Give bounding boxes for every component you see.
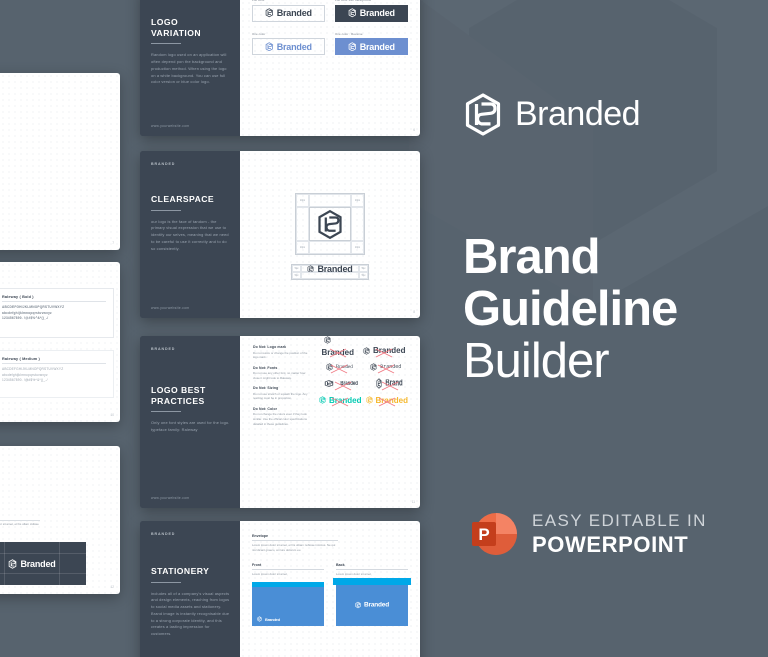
- slide-page-number: 10: [110, 413, 114, 417]
- rule-text: Do not change the colors even if they lo…: [253, 412, 311, 426]
- slide-title: LOGO BESTPRACTICES: [151, 385, 231, 406]
- envelope-back-col: Back Lorem ipsum dolor sit amet, Branded: [336, 563, 408, 626]
- slide-body-text: our logo is the face of tandom - the pri…: [151, 219, 231, 253]
- slide-footer-url: www.yourwebsite.com: [151, 496, 231, 500]
- slide-footer-url: www.yourwebsite.com: [151, 306, 231, 310]
- envelope-intro: Envelope Lorem ipsum dolor sit amet, ei …: [252, 534, 338, 552]
- clearspace-diagram: 10px 10px 10px 10px 5px Branded: [240, 151, 420, 318]
- branded-hexagon-logo-icon: [257, 616, 262, 622]
- divider: [2, 301, 106, 302]
- brand-wordmark: Branded: [360, 42, 395, 52]
- example-row-fonts: Branded Branded: [317, 362, 410, 373]
- example-row-sizing: Branded Brand: [317, 378, 410, 389]
- slide-page-number: 11: [412, 500, 415, 504]
- hero-brand-lockup: Branded: [463, 92, 640, 137]
- typography-glyphs: 1234567890. !@#$%^&*()_-/: [2, 378, 106, 384]
- divider: [151, 43, 181, 44]
- best-practices-examples: Branded Branded Branded Bra: [317, 345, 410, 499]
- branded-lockup: Branded: [8, 559, 55, 569]
- svg-text:P: P: [478, 525, 489, 544]
- slide-page-number: 6: [413, 128, 415, 132]
- example-row-color: Branded Branded: [317, 395, 410, 406]
- rule-item: Do Not: Sizing Do not use stretch or squ…: [253, 386, 311, 401]
- left-card-business-card[interactable]: amet, ei ulat. amet, ei us. Back Lorem i…: [0, 446, 120, 594]
- slide-content: Full color Branded Full color with backg…: [240, 0, 420, 136]
- brand-wordmark: Branded: [277, 42, 312, 52]
- logo-variant-full-color-bg[interactable]: Full color with background Branded: [335, 0, 408, 22]
- divider: [151, 411, 181, 412]
- typography-heading: Raleway ( Medium ): [2, 357, 106, 361]
- typography-block-bold[interactable]: Raleway ( Bold ) ABCDEFGHIJKLMNOPQRSTUVW…: [0, 288, 114, 338]
- clearspace-label: 5px: [295, 274, 299, 277]
- clearspace-lockup-grid: 5px Branded 5px 5px 5px: [291, 264, 369, 280]
- slide-page-number: 12: [110, 585, 114, 589]
- bad-example: Branded: [370, 363, 401, 371]
- envelope-back-preview[interactable]: Branded: [336, 582, 408, 626]
- slide-footer-url: www.yourwebsite.com: [151, 124, 231, 128]
- brand-wordmark: Branded: [360, 8, 395, 18]
- branded-hexagon-logo-icon: [376, 378, 382, 389]
- typography-block-medium[interactable]: Raleway ( Medium ) ABCDEFGHIJKLMNOPQRSTU…: [0, 350, 114, 398]
- slide-content: Envelope Lorem ipsum dolor sit amet, ei …: [240, 521, 420, 657]
- rule-heading: Do Not: Sizing: [253, 386, 311, 390]
- slide-body-text: Only one font styles are used for the lo…: [151, 420, 231, 433]
- logo-variant-one-color[interactable]: One color Branded: [252, 32, 325, 56]
- brand-wordmark: Branded: [364, 601, 389, 608]
- logo-variant-full-color[interactable]: Full color Branded: [252, 0, 325, 22]
- hero-panel: Branded Brand Guideline Builder P EASY E…: [460, 0, 768, 657]
- page-title-line3: Builder: [463, 336, 677, 388]
- powerpoint-icon: P: [466, 508, 518, 560]
- slide-sidebar: BRANDED STATIONERY includes all of a com…: [140, 521, 240, 657]
- envelope-previews: Front Lorem ipsum dolor sit amet, Brande…: [252, 563, 408, 626]
- branded-hexagon-logo-icon: [324, 336, 331, 344]
- slide-title: STATIONERY: [151, 566, 231, 577]
- envelope-front-col: Front Lorem ipsum dolor sit amet, Brande…: [252, 563, 324, 626]
- brand-wordmark: Branded: [265, 617, 280, 622]
- divider: [252, 540, 338, 541]
- clearspace-label: 10px: [300, 246, 305, 249]
- clearspace-logo-cell: [309, 207, 351, 241]
- logo-variation-grid: Full color Branded Full color with backg…: [240, 0, 420, 136]
- bad-example: Branded: [319, 396, 361, 405]
- bad-example: Branded: [322, 342, 354, 360]
- variant-swatch[interactable]: Branded: [335, 38, 408, 55]
- left-card-typography[interactable]: the ing. are used for standard body stat…: [0, 262, 120, 422]
- powerpoint-badge: P EASY EDITABLE IN POWERPOINT: [466, 508, 707, 560]
- page-title-line2: Guideline: [463, 284, 677, 336]
- slide-eyebrow: BRANDED: [151, 532, 231, 536]
- variant-swatch[interactable]: Branded: [335, 5, 408, 22]
- rule-heading: Do Not: Fonts: [253, 366, 311, 370]
- brand-wordmark: Branded: [20, 559, 55, 569]
- clearspace-label: 10px: [355, 246, 360, 249]
- envelope-front-label: Front: [252, 563, 324, 567]
- slide-sidebar: BRANDED CLEARSPACE our logo is the face …: [140, 151, 240, 318]
- branded-hexagon-logo-icon: [366, 396, 373, 404]
- slide-page-number: 8: [413, 310, 415, 314]
- slide-body-text: includes all of a company's visual aspec…: [151, 591, 231, 638]
- envelope-heading: Envelope: [252, 534, 338, 538]
- envelope-back-label: Back: [336, 563, 408, 567]
- best-practices-rules: Do Not: Logo mark Do not resize or chang…: [253, 345, 311, 499]
- slide-eyebrow: BRANDED: [151, 162, 231, 166]
- variant-swatch[interactable]: Branded: [252, 5, 325, 22]
- branded-hexagon-logo-icon: [370, 363, 377, 371]
- branded-hexagon-logo-icon: [324, 380, 334, 387]
- business-card-back-label: Back: [0, 514, 40, 518]
- slide-card-logo-variation[interactable]: LOGOVARIATION Random logo used on an app…: [140, 0, 420, 136]
- rule-text: Do not use any other font, no matter how…: [253, 371, 311, 381]
- bad-example: Branded: [363, 346, 405, 355]
- brand-wordmark: Branded: [277, 8, 312, 18]
- divider: [151, 582, 181, 583]
- branded-hexagon-logo-icon: [265, 42, 274, 52]
- envelope-front-preview[interactable]: Branded: [252, 582, 324, 626]
- clearspace-label: 10px: [355, 199, 360, 202]
- rule-item: Do Not: Fonts Do not use any other font,…: [253, 366, 311, 381]
- clearspace-label: 5px: [362, 274, 366, 277]
- example-row-logo-mark: Branded Branded: [317, 345, 410, 356]
- envelope-back-text: Lorem ipsum dolor sit amet,: [336, 572, 408, 577]
- branded-hexagon-logo-icon: [319, 396, 326, 404]
- bad-example: Branded: [324, 380, 361, 387]
- slide-card-logo-best-practices[interactable]: BRANDED LOGO BESTPRACTICES Only one font…: [140, 336, 420, 508]
- best-practices-layout: Do Not: Logo mark Do not resize or chang…: [240, 336, 420, 508]
- variant-caption: One color : Reverse: [335, 32, 408, 36]
- envelope-text: Lorem ipsum dolor sit amet, ei his ubiam…: [252, 543, 338, 553]
- clearspace-label: 5px: [362, 267, 366, 270]
- bad-example: Brand: [376, 378, 402, 389]
- business-card-back-text: Lorem ipsum dolor sit amet, et his ullam…: [0, 522, 40, 532]
- variant-swatch[interactable]: Branded: [252, 38, 325, 55]
- rule-heading: Do Not: Color: [253, 407, 311, 411]
- stationery-layout: Envelope Lorem ipsum dolor sit amet, ei …: [240, 521, 420, 657]
- branded-hexagon-logo-icon: [348, 42, 357, 52]
- divider: [0, 520, 40, 521]
- slide-title: CLEARSPACE: [151, 194, 231, 205]
- variant-caption: Full color: [252, 0, 325, 2]
- branded-hexagon-logo-icon: [326, 363, 333, 371]
- page-title-line1: Brand: [463, 232, 677, 284]
- slide-page-number: 7: [112, 241, 114, 245]
- rule-item: Do Not: Color Do not change the colors e…: [253, 407, 311, 427]
- bad-example: Branded: [366, 396, 408, 405]
- clearspace-label: 5px: [295, 267, 299, 270]
- slide-card-clearspace[interactable]: BRANDED CLEARSPACE our logo is the face …: [140, 151, 420, 318]
- slide-sidebar: LOGOVARIATION Random logo used on an app…: [140, 0, 240, 136]
- branded-hexagon-logo-icon: [316, 209, 344, 240]
- business-card-back[interactable]: Branded: [0, 542, 86, 585]
- slide-sidebar: BRANDED LOGO BESTPRACTICES Only one font…: [140, 336, 240, 508]
- business-card-back-caption: Back Lorem ipsum dolor sit amet, et his …: [0, 514, 40, 532]
- typography-heading: Raleway ( Bold ): [2, 295, 106, 299]
- clearspace-label: 10px: [300, 199, 305, 202]
- rule-heading: Do Not: Logo mark: [253, 345, 311, 349]
- rule-text: Do not use stretch or squash the logo. A…: [253, 392, 311, 402]
- envelope-front-text: Lorem ipsum dolor sit amet,: [252, 572, 324, 577]
- clearspace-logo-grid: 10px 10px 10px 10px: [295, 193, 365, 255]
- left-card-colors[interactable]: 7: [0, 73, 120, 250]
- divider: [151, 210, 181, 211]
- branded-hexagon-logo-icon: [355, 601, 361, 608]
- page-title: Brand Guideline Builder: [463, 232, 677, 388]
- slide-title: LOGOVARIATION: [151, 17, 231, 38]
- variant-caption: Full color with background: [335, 0, 408, 2]
- branded-hexagon-logo-icon: [363, 347, 370, 355]
- powerpoint-badge-text: EASY EDITABLE IN POWERPOINT: [532, 511, 707, 558]
- divider: [2, 363, 106, 364]
- divider: [336, 569, 408, 570]
- variant-caption: One color: [252, 32, 325, 36]
- slide-eyebrow: BRANDED: [151, 347, 231, 351]
- logo-variant-one-color-reverse[interactable]: One color : Reverse Branded: [335, 32, 408, 56]
- branded-hexagon-logo-icon: [348, 8, 357, 18]
- branded-hexagon-logo-icon: [265, 8, 274, 18]
- slide-body-text: Random logo used on an application will …: [151, 52, 231, 86]
- hero-brand-wordmark: Branded: [515, 95, 640, 134]
- branded-hexagon-logo-icon: [8, 559, 17, 569]
- typography-glyphs: 1234567890. !@#$%^&*()_-/: [2, 316, 106, 322]
- powerpoint-badge-line2: POWERPOINT: [532, 532, 707, 558]
- slide-card-stationery[interactable]: BRANDED STATIONERY includes all of a com…: [140, 521, 420, 657]
- divider: [252, 569, 324, 570]
- rule-text: Do not resize or change the position of …: [253, 351, 311, 361]
- slide-content: Do Not: Logo mark Do not resize or chang…: [240, 336, 420, 508]
- slide-content: 10px 10px 10px 10px 5px Branded: [240, 151, 420, 318]
- powerpoint-badge-line1: EASY EDITABLE IN: [532, 511, 707, 531]
- bad-example: Branded: [326, 363, 353, 371]
- branded-hexagon-logo-icon: [463, 92, 503, 137]
- rule-item: Do Not: Logo mark Do not resize or chang…: [253, 345, 311, 360]
